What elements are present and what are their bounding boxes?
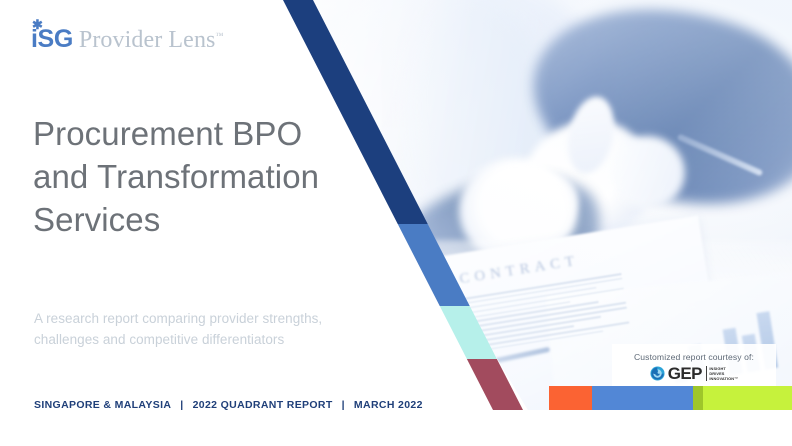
gep-swirl-icon <box>650 366 665 381</box>
gep-logo: GEP INSIGHT DRIVES INNOVATION™ <box>650 365 738 382</box>
gep-tagline-tm: ™ <box>734 376 738 381</box>
page-title-line-1: Procurement BPO <box>33 112 383 155</box>
isg-provider-lens-logo: ✱ iSG Provider Lens™ <box>31 27 223 52</box>
page-subtitle: A research report comparing provider str… <box>34 309 334 350</box>
star-icon: ✱ <box>32 18 43 31</box>
bottom-bar-segment-blue <box>592 386 693 410</box>
gep-wordmark: GEP <box>668 365 702 382</box>
bottom-bar-segment-orange <box>549 386 592 410</box>
sponsor-courtesy-card: Customized report courtesy of: GEP INSIG… <box>612 344 776 390</box>
isg-wordmark: ✱ iSG <box>31 27 73 52</box>
courtesy-label: Customized report courtesy of: <box>634 352 754 362</box>
trademark-symbol: ™ <box>215 31 223 40</box>
page-title-line-2: and Transformation <box>33 155 383 198</box>
page-title: Procurement BPO and Transformation Servi… <box>33 112 383 242</box>
bottom-color-bar <box>0 386 792 410</box>
bottom-bar-segment-olive <box>693 386 703 410</box>
provider-lens-wordmark: Provider Lens™ <box>79 28 224 52</box>
page-title-line-3: Services <box>33 198 383 241</box>
bottom-bar-segment-lime <box>703 386 792 410</box>
gep-tagline: INSIGHT DRIVES INNOVATION™ <box>706 366 738 382</box>
provider-lens-text: Provider Lens <box>79 27 216 53</box>
report-cover-page: CONTRACT <box>0 0 792 446</box>
gep-tagline-line-3: INNOVATION <box>709 376 734 381</box>
